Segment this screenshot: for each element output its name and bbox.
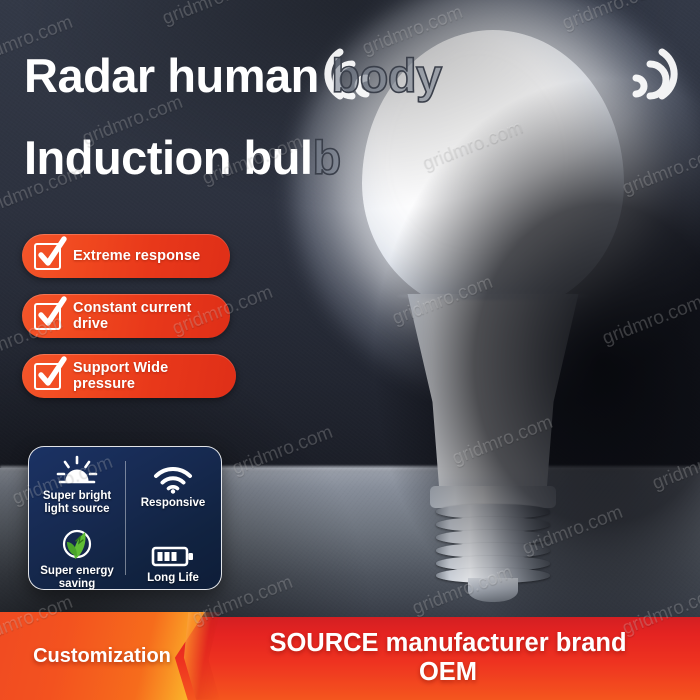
spec-card-divider <box>125 461 126 575</box>
feature-pill-label: Constant current drive <box>73 300 214 332</box>
wifi-icon <box>152 460 194 494</box>
spec-card: Super bright light source Responsive <box>28 446 222 590</box>
leaf-icon <box>57 528 97 562</box>
feature-pill-list: Extreme response Constant current drive … <box>22 234 236 414</box>
checkbox-icon <box>34 243 61 270</box>
spec-cell-bright: Super bright light source <box>29 447 125 522</box>
checkbox-icon <box>34 363 61 390</box>
radar-wave-left-icon <box>322 26 402 106</box>
spec-cell-label: Super bright light source <box>31 490 123 516</box>
banner-line-2: OEM <box>419 658 477 687</box>
banner-line-1: SOURCE manufacturer brand <box>269 629 626 658</box>
spec-cell-label: Long Life <box>147 572 199 585</box>
product-marketing-image: Radar human body Induction bulb Extreme … <box>0 0 700 700</box>
sun-icon <box>54 453 100 487</box>
customization-tab-label: Customization <box>4 612 200 700</box>
feature-pill: Support Wide pressure <box>22 354 236 398</box>
spec-cell-energy: Super energy saving <box>29 522 125 590</box>
spec-cell-responsive: Responsive <box>125 447 221 522</box>
feature-pill-label: Extreme response <box>73 248 200 264</box>
spec-cell-label: Super energy saving <box>31 565 123 590</box>
feature-pill-label: Support Wide pressure <box>73 360 220 392</box>
feature-pill: Constant current drive <box>22 294 230 338</box>
checkbox-icon <box>34 303 61 330</box>
banner-headline: SOURCE manufacturer brand OEM <box>196 616 700 700</box>
battery-icon <box>151 535 195 569</box>
spec-cell-label: Responsive <box>141 497 206 510</box>
feature-pill: Extreme response <box>22 234 230 278</box>
radar-wave-right-icon <box>600 26 680 106</box>
spec-cell-longlife: Long Life <box>125 522 221 590</box>
